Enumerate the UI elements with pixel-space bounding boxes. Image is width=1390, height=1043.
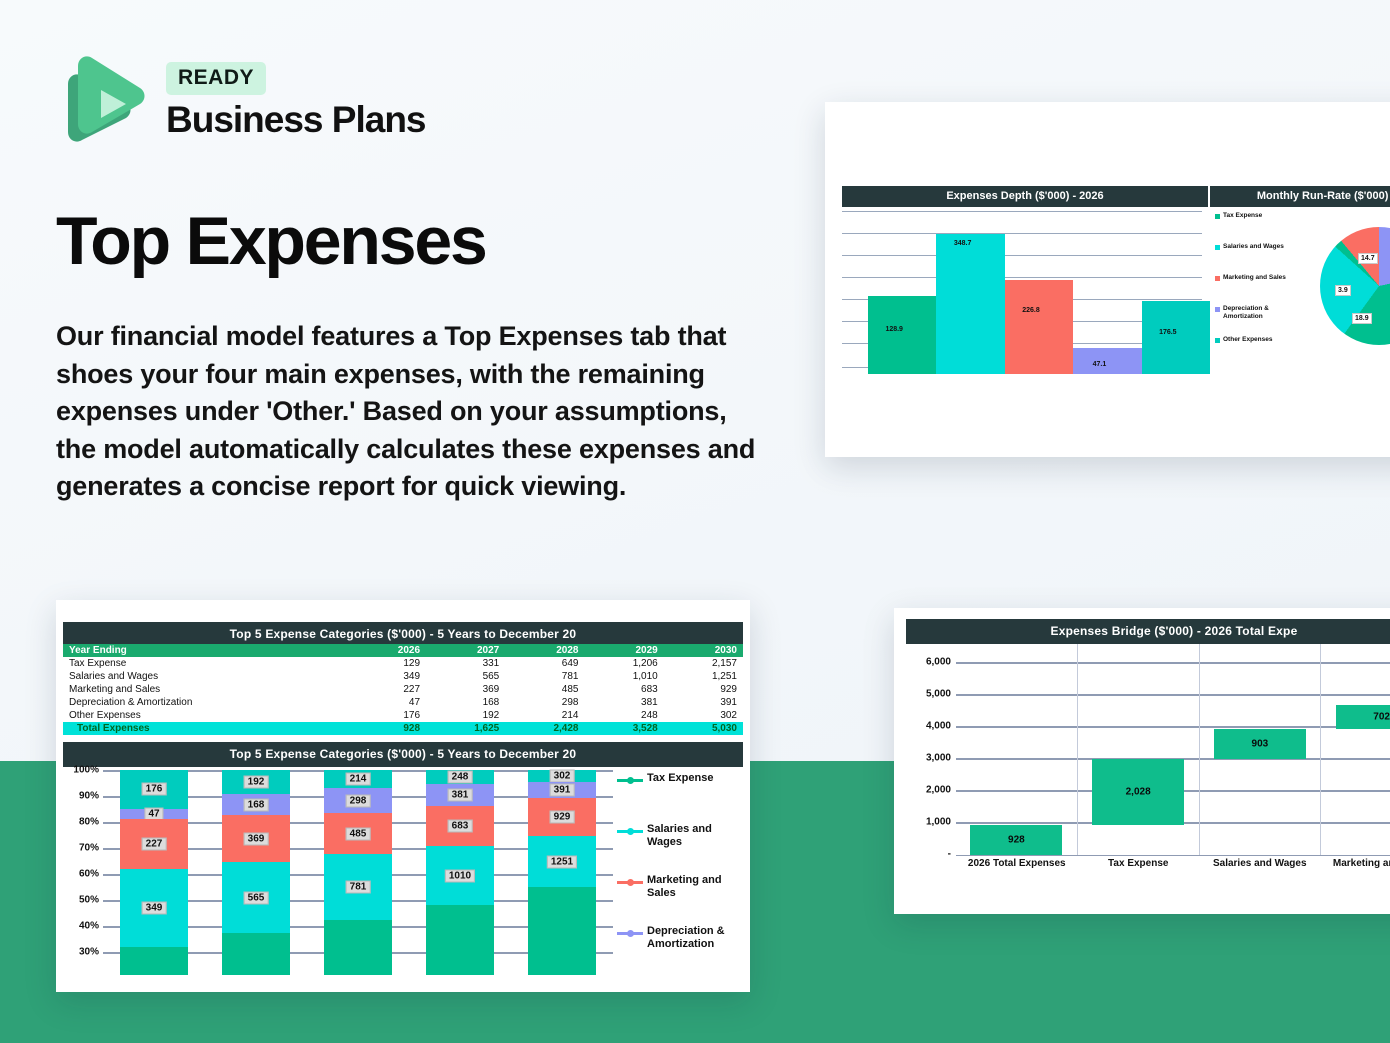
bar-value-label: 348.7	[928, 240, 996, 247]
segment-depreciation: 391	[528, 782, 595, 798]
col-2030: 2030	[664, 644, 743, 657]
cell: 683	[584, 683, 663, 696]
segment-other-expenses: 192	[222, 770, 289, 794]
cell: 1,251	[664, 670, 743, 683]
legend-item: Other Expenses	[1215, 336, 1305, 367]
expense-categories-table: Year Ending 2026 2027 2028 2029 2030 Tax…	[63, 644, 743, 735]
cell: 649	[505, 657, 584, 670]
legend-swatch-icon	[1215, 338, 1220, 343]
total-cell: 5,030	[664, 722, 743, 735]
segment-marketing: 485	[324, 813, 391, 854]
y-tick: 40%	[79, 921, 99, 932]
cell: 168	[426, 696, 505, 709]
expenses-depth-chart: 128.9 348.7 226.8 47.1 176.5	[842, 210, 1202, 375]
segment-other-expenses: 176	[120, 770, 187, 809]
expenses-bridge-waterfall-chart: 6,000 5,000 4,000 3,000 2,000 1,000 - 92…	[906, 644, 1390, 902]
segment-depreciation: 298	[324, 788, 391, 813]
stacked-column-2026: 176 47 227 349	[103, 770, 205, 975]
segment-depreciation: 47	[120, 809, 187, 819]
monthly-run-rate-pie-chart: 10.7 14.7 3.9 18.9	[1320, 227, 1390, 352]
segment-value: 369	[244, 832, 269, 845]
waterfall-bar: 903	[1214, 729, 1306, 759]
table-row: Salaries and Wages 349 565 781 1,010 1,2…	[63, 670, 743, 683]
stacked-column-2027: 192 168 369 565	[205, 770, 307, 975]
stacked-chart-legend: Tax Expense Salaries and Wages Marketing…	[617, 772, 743, 976]
expense-categories-card: Top 5 Expense Categories ($'000) - 5 Yea…	[56, 600, 750, 992]
legend-item: Depreciation & Amortization	[617, 925, 743, 976]
cell: 369	[426, 683, 505, 696]
legend-marker-icon	[617, 826, 643, 836]
cell: 298	[505, 696, 584, 709]
bar-value-label: 47.1	[1065, 361, 1133, 368]
segment-value: 227	[142, 838, 167, 851]
bar-value: 928	[1008, 835, 1025, 846]
legend-label: Salaries and Wages	[1223, 243, 1284, 251]
table-row: Depreciation & Amortization 47 168 298 3…	[63, 696, 743, 709]
bar-tax-expense: 128.9	[860, 296, 928, 374]
cell: 302	[664, 709, 743, 722]
y-tick: 60%	[79, 869, 99, 880]
legend-item: Depreciation & Amortization	[1215, 305, 1305, 336]
segment-value: 176	[142, 783, 167, 796]
segment-other-expenses: 248	[426, 770, 493, 784]
legend-item: Marketing and Sales	[617, 874, 743, 925]
legend-marker-icon	[617, 928, 643, 938]
cell: 129	[353, 657, 426, 670]
segment-other-expenses: 214	[324, 770, 391, 788]
segment-salaries: 565	[222, 862, 289, 933]
stacked-column-2029: 248 381 683 1010	[409, 770, 511, 975]
segment-salaries: 349	[120, 869, 187, 946]
cell: 485	[505, 683, 584, 696]
legend-label: Tax Expense	[1223, 212, 1262, 220]
total-cell: 3,528	[584, 722, 663, 735]
bar-value-label: 176.5	[1134, 329, 1202, 336]
col-2029: 2029	[584, 644, 663, 657]
col-year-ending: Year Ending	[63, 644, 353, 657]
cell: 1,206	[584, 657, 663, 670]
table-header-row: Year Ending 2026 2027 2028 2029 2030	[63, 644, 743, 657]
cell: 331	[426, 657, 505, 670]
cell: 349	[353, 670, 426, 683]
play-triangle-logo-icon	[56, 52, 148, 144]
bar-value: 2,028	[1126, 787, 1151, 798]
y-tick: 100%	[73, 765, 99, 776]
legend-label: Marketing and Sales	[1223, 274, 1286, 282]
total-label: Total Expenses	[63, 722, 353, 735]
cell: 781	[505, 670, 584, 683]
bar-other-expenses: 176.5	[1134, 301, 1202, 374]
segment-value: 1251	[547, 855, 577, 868]
bridge-col-marketing-and-sales: 702	[1320, 644, 1390, 855]
x-tick: 2026 Total Expenses	[956, 858, 1078, 869]
legend-swatch-icon	[1215, 276, 1220, 281]
cell: 47	[353, 696, 426, 709]
bar-value-label: 128.9	[860, 326, 928, 333]
y-tick: 70%	[79, 843, 99, 854]
brand-name: Business Plans	[166, 101, 426, 138]
col-2026: 2026	[353, 644, 426, 657]
y-tick: 50%	[79, 895, 99, 906]
y-tick: 4,000	[926, 721, 951, 732]
bridge-columns: 928 2,028 903 702	[956, 644, 1390, 855]
segment-value: 298	[346, 794, 371, 807]
y-tick: -	[948, 849, 951, 860]
bar-value-label: 226.8	[997, 307, 1065, 314]
x-tick: Marketing and Sales	[1321, 858, 1390, 869]
bar-marketing-and-sales: 226.8	[997, 280, 1065, 374]
legend-marker-icon	[617, 877, 643, 887]
cell: 391	[664, 696, 743, 709]
segment-value: 1010	[445, 869, 475, 882]
segment-value: 565	[244, 891, 269, 904]
cell: 192	[426, 709, 505, 722]
segment-value: 192	[244, 776, 269, 789]
expenses-depth-legend: Tax Expense Salaries and Wages Marketing…	[1215, 212, 1305, 367]
stacked-column-2028: 214 298 485 781	[307, 770, 409, 975]
row-label: Tax Expense	[63, 657, 353, 670]
legend-item: Tax Expense	[1215, 212, 1305, 243]
row-label: Depreciation & Amortization	[63, 696, 353, 709]
bridge-col-salaries-and-wages: 903	[1199, 644, 1321, 855]
segment-tax	[324, 920, 391, 975]
legend-label: Depreciation & Amortization	[647, 925, 743, 951]
pie-label-marketing: 14.7	[1358, 253, 1378, 264]
stacked-y-axis: 100% 90% 80% 70% 60% 50% 40% 30%	[63, 770, 101, 966]
segment-value: 302	[550, 770, 575, 783]
segment-value: 485	[346, 827, 371, 840]
segment-tax	[222, 933, 289, 975]
segment-marketing: 369	[222, 815, 289, 862]
segment-salaries: 1251	[528, 836, 595, 887]
col-2027: 2027	[426, 644, 505, 657]
expenses-depth-card: Expenses Depth ($'000) - 2026 Monthly Ru…	[825, 102, 1390, 457]
legend-swatch-icon	[1215, 245, 1220, 250]
x-tick: Tax Expense	[1078, 858, 1200, 869]
stacked-plot-area: 176 47 227 349 192 168 369 565 214	[103, 770, 613, 975]
legend-item: Salaries and Wages	[617, 823, 743, 874]
expenses-depth-title: Expenses Depth ($'000) - 2026	[842, 186, 1210, 207]
pie-label-salaries: 18.9	[1352, 313, 1372, 324]
cell: 1,010	[584, 670, 663, 683]
segment-value: 349	[142, 901, 167, 914]
x-tick: Salaries and Wages	[1199, 858, 1321, 869]
y-tick: 3,000	[926, 753, 951, 764]
cell: 2,157	[664, 657, 743, 670]
bar-depreciation-amortization: 47.1	[1065, 348, 1133, 374]
y-tick: 1,000	[926, 817, 951, 828]
stacked-bar-chart: 100% 90% 80% 70% 60% 50% 40% 30% 176 47	[63, 766, 743, 992]
segment-value: 381	[448, 789, 473, 802]
segment-value: 781	[346, 881, 371, 894]
table-row: Other Expenses 176 192 214 248 302	[63, 709, 743, 722]
waterfall-bar: 2,028	[1092, 759, 1184, 825]
segment-marketing: 683	[426, 806, 493, 846]
segment-depreciation: 381	[426, 784, 493, 806]
legend-item: Tax Expense	[617, 772, 743, 823]
table-total-row: Total Expenses 928 1,625 2,428 3,528 5,0…	[63, 722, 743, 735]
y-tick: 90%	[79, 791, 99, 802]
cell: 929	[664, 683, 743, 696]
segment-value: 391	[550, 784, 575, 797]
row-label: Marketing and Sales	[63, 683, 353, 696]
legend-label: Tax Expense	[647, 772, 713, 785]
segment-marketing: 227	[120, 819, 187, 869]
segment-tax	[426, 905, 493, 975]
legend-label: Salaries and Wages	[647, 823, 743, 849]
legend-label: Depreciation & Amortization	[1223, 305, 1305, 321]
segment-value: 214	[346, 773, 371, 786]
bridge-title: Expenses Bridge ($'000) - 2026 Total Exp…	[906, 619, 1390, 644]
monthly-run-rate-title: Monthly Run-Rate ($'000) -	[1210, 186, 1390, 207]
cell: 227	[353, 683, 426, 696]
segment-value: 683	[448, 820, 473, 833]
legend-marker-icon	[617, 775, 643, 785]
top-right-title-bar: Expenses Depth ($'000) - 2026 Monthly Ru…	[842, 186, 1390, 207]
legend-item: Salaries and Wages	[1215, 243, 1305, 274]
ready-badge: READY	[166, 62, 266, 95]
bridge-col-tax-expense: 2,028	[1077, 644, 1199, 855]
row-label: Salaries and Wages	[63, 670, 353, 683]
bridge-y-axis: 6,000 5,000 4,000 3,000 2,000 1,000 -	[906, 644, 954, 856]
bar-value: 702	[1373, 712, 1390, 723]
table-row: Tax Expense 129 331 649 1,206 2,157	[63, 657, 743, 670]
total-cell: 1,625	[426, 722, 505, 735]
brand-logo: READY Business Plans	[56, 52, 426, 144]
page-title: Top Expenses	[56, 202, 486, 280]
y-tick: 6,000	[926, 657, 951, 668]
y-tick: 2,000	[926, 785, 951, 796]
segment-marketing: 929	[528, 798, 595, 836]
segment-value: 929	[550, 811, 575, 824]
bridge-col-2026-total: 928	[956, 644, 1077, 855]
expenses-bridge-card: Expenses Bridge ($'000) - 2026 Total Exp…	[894, 608, 1390, 914]
segment-tax	[528, 887, 595, 975]
segment-tax	[120, 947, 187, 976]
segment-depreciation: 168	[222, 794, 289, 815]
segment-salaries: 1010	[426, 846, 493, 905]
stacked-column-2030: 302 391 929 1251	[511, 770, 613, 975]
bar-salaries-and-wages: 348.7	[928, 234, 996, 374]
total-cell: 2,428	[505, 722, 584, 735]
legend-label: Marketing and Sales	[647, 874, 743, 900]
y-tick: 30%	[79, 947, 99, 958]
y-tick: 5,000	[926, 689, 951, 700]
page-description: Our financial model features a Top Expen…	[56, 318, 756, 506]
segment-value: 248	[448, 771, 473, 784]
cell: 248	[584, 709, 663, 722]
table-row: Marketing and Sales 227 369 485 683 929	[63, 683, 743, 696]
legend-label: Other Expenses	[1223, 336, 1273, 344]
segment-value: 168	[244, 798, 269, 811]
cell: 176	[353, 709, 426, 722]
row-label: Other Expenses	[63, 709, 353, 722]
stacked-columns: 176 47 227 349 192 168 369 565 214	[103, 770, 613, 975]
cell: 381	[584, 696, 663, 709]
waterfall-bar: 702	[1336, 705, 1390, 729]
legend-item: Marketing and Sales	[1215, 274, 1305, 305]
bar-group: 128.9 348.7 226.8 47.1 176.5	[860, 216, 1202, 374]
cell: 565	[426, 670, 505, 683]
legend-swatch-icon	[1215, 307, 1220, 312]
col-2028: 2028	[505, 644, 584, 657]
segment-salaries: 781	[324, 854, 391, 920]
pie-graphic	[1320, 227, 1390, 345]
segment-other-expenses: 302	[528, 770, 595, 782]
legend-swatch-icon	[1215, 214, 1220, 219]
bar-value: 903	[1252, 739, 1269, 750]
bridge-x-axis: 2026 Total Expenses Tax Expense Salaries…	[956, 858, 1390, 869]
pie-label-small-slice: 3.9	[1335, 285, 1351, 296]
waterfall-bar: 928	[970, 825, 1062, 855]
cell: 214	[505, 709, 584, 722]
y-tick: 80%	[79, 817, 99, 828]
total-cell: 928	[353, 722, 426, 735]
bridge-plot-area: 928 2,028 903 702	[956, 644, 1390, 856]
stacked-chart-title: Top 5 Expense Categories ($'000) - 5 Yea…	[63, 742, 743, 767]
